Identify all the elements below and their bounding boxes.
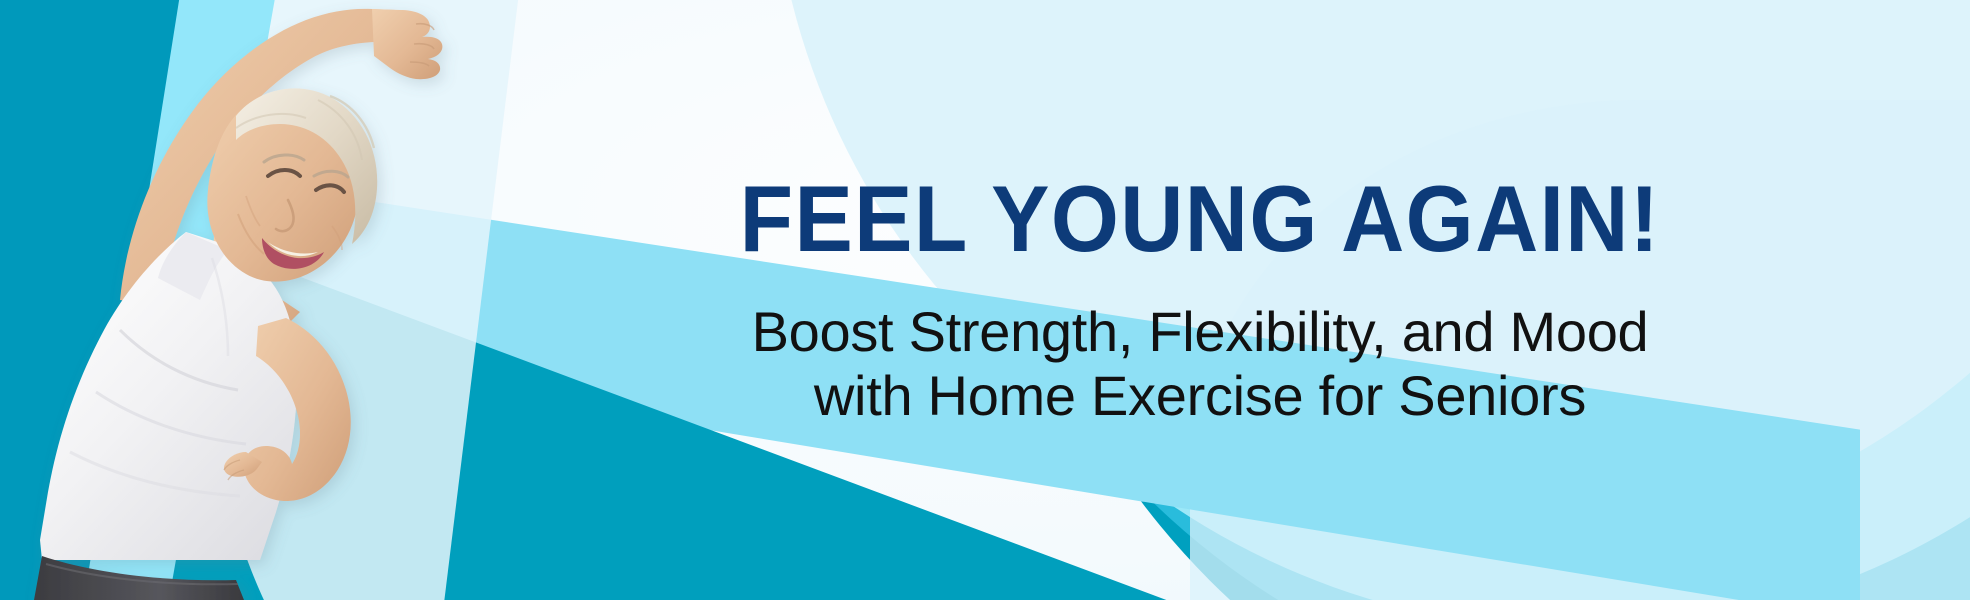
senior-woman-stretching-photo: [0, 0, 470, 600]
banner-subtitle-line-2: with Home Exercise for Seniors: [752, 364, 1649, 428]
promo-banner: FEEL YOUNG AGAIN! Boost Strength, Flexib…: [0, 0, 1970, 600]
banner-copy: FEEL YOUNG AGAIN! Boost Strength, Flexib…: [470, 0, 1930, 600]
banner-subtitle-line-1: Boost Strength, Flexibility, and Mood: [752, 300, 1649, 364]
banner-subtitle: Boost Strength, Flexibility, and Mood wi…: [752, 300, 1649, 428]
page-title: FEEL YOUNG AGAIN!: [740, 172, 1661, 266]
